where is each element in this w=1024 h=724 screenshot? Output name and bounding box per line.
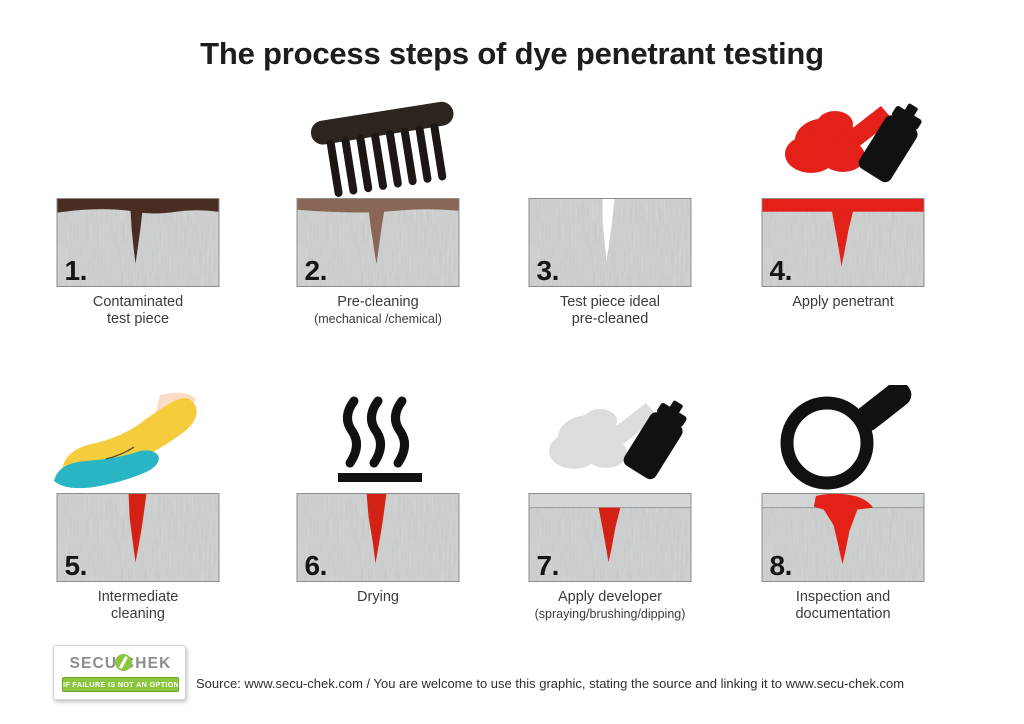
step-number: 4. (770, 257, 792, 285)
step-7-caption: Apply developer (spraying/brushing/dippi… (482, 589, 738, 622)
wire-brush-icon (250, 90, 506, 198)
step-card-4: 4. Apply penetrant (715, 90, 971, 380)
page-title: The process steps of dye penetrant testi… (0, 36, 1024, 72)
spray-can-grey-icon (482, 385, 738, 493)
step-number: 5. (65, 552, 87, 580)
caption-main: Intermediate cleaning (10, 589, 266, 623)
caption-main: Test piece ideal pre-cleaned (482, 294, 738, 328)
step-2-caption: Pre-cleaning (mechanical /chemical) (250, 294, 506, 327)
step-card-2: 2. Pre-cleaning (mechanical /chemical) (250, 90, 506, 380)
step-1-caption: Contaminated test piece (10, 294, 266, 328)
step-7-icon-area (482, 385, 738, 493)
step-5-caption: Intermediate cleaning (10, 589, 266, 623)
step-card-5: 5. Intermediate cleaning (10, 385, 266, 675)
step-6-specimen-block: 6. (297, 493, 460, 582)
step-2-specimen-block: 2. (297, 198, 460, 287)
step-number: 2. (305, 257, 327, 285)
step-7-specimen-block: 7. (529, 493, 692, 582)
step-3-caption: Test piece ideal pre-cleaned (482, 294, 738, 328)
step-4-icon-area (715, 90, 971, 198)
step-3-specimen-block: 3. (529, 198, 692, 287)
caption-main: Apply developer (482, 589, 738, 606)
step-8-specimen-block: 8. (762, 493, 925, 582)
step-number: 6. (305, 552, 327, 580)
step-number: 1. (65, 257, 87, 285)
caption-main: Inspection and documentation (715, 589, 971, 623)
step-6-caption: Drying (250, 589, 506, 606)
magnifier-icon (715, 385, 971, 493)
step-number: 8. (770, 552, 792, 580)
step-card-8: 8. Inspection and documentation (715, 385, 971, 675)
step-8-icon-area (715, 385, 971, 493)
gloved-hand-wipe-icon (10, 385, 266, 493)
infographic-page: The process steps of dye penetrant testi… (0, 0, 1024, 724)
secu-chek-logo[interactable]: SECU CHEK IF FAILURE IS NOT AN OPTION (53, 645, 186, 700)
step-1-icon-area (10, 90, 266, 198)
caption-main: Pre-cleaning (250, 294, 506, 311)
caption-sub: (mechanical /chemical) (250, 311, 506, 327)
step-5-icon-area (10, 385, 266, 493)
step-3-icon-area (482, 90, 738, 198)
source-credit: Source: www.secu-chek.com / You are welc… (196, 676, 904, 691)
step-card-3: 3. Test piece ideal pre-cleaned (482, 90, 738, 380)
step-4-caption: Apply penetrant (715, 294, 971, 311)
step-5-specimen-block: 5. (57, 493, 220, 582)
step-card-6: 6. Drying (250, 385, 506, 675)
step-number: 3. (537, 257, 559, 285)
logo-tagline: IF FAILURE IS NOT AN OPTION (62, 677, 179, 692)
heat-drying-icon (250, 385, 506, 493)
step-6-icon-area (250, 385, 506, 493)
caption-sub: (spraying/brushing/dipping) (482, 606, 738, 622)
step-8-caption: Inspection and documentation (715, 589, 971, 623)
steps-row-2: 5. Intermediate cleaning (0, 385, 1024, 675)
step-2-icon-area (250, 90, 506, 198)
caption-main: Apply penetrant (715, 294, 971, 311)
footer: SECU CHEK IF FAILURE IS NOT AN OPTION So… (0, 640, 1024, 724)
caption-main: Drying (250, 589, 506, 606)
step-1-specimen-block: 1. (57, 198, 220, 287)
steps-row-1: 1. Contaminated test piece (0, 90, 1024, 380)
step-4-specimen-block: 4. (762, 198, 925, 287)
check-circle-icon (115, 654, 132, 671)
step-card-1: 1. Contaminated test piece (10, 90, 266, 380)
step-number: 7. (537, 552, 559, 580)
spray-can-red-icon (715, 90, 971, 198)
caption-main: Contaminated test piece (10, 294, 266, 328)
step-card-7: 7. Apply developer (spraying/brushing/di… (482, 385, 738, 675)
